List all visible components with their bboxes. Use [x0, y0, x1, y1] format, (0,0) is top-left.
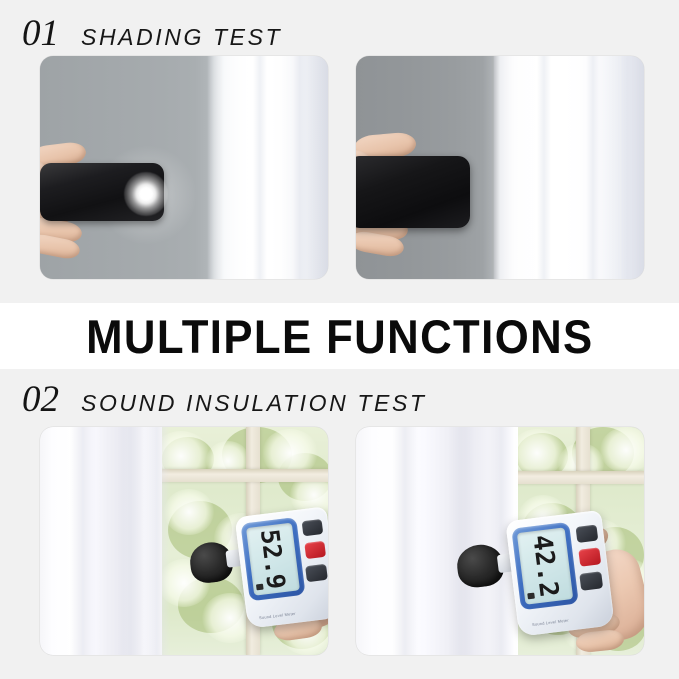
meter-button-power[interactable]	[302, 519, 324, 536]
meter-body: 42.2 Sound Level Meter	[505, 510, 614, 637]
meter-button-record[interactable]	[304, 541, 326, 559]
smartphone-flashlight-blocked	[356, 156, 470, 228]
banner-multiple-functions: MULTIPLE FUNCTIONS	[0, 303, 679, 369]
meter-body: 52.9 Sound Level Meter	[235, 506, 328, 628]
meter-lcd-screen: 42.2	[517, 527, 573, 604]
curtain-fold	[586, 56, 600, 279]
photo-panel-shading-flashlight-blocked	[356, 56, 644, 279]
meter-brand-label: Sound Level Meter	[532, 618, 569, 627]
curtain-fold	[70, 427, 96, 655]
meter-button-mode[interactable]	[579, 571, 603, 591]
meter-button-power[interactable]	[576, 524, 599, 542]
curtain-fold	[392, 427, 418, 655]
meter-reading-value: 42.2	[526, 533, 563, 599]
photo-panel-sound-behind-curtain: 42.2 Sound Level Meter	[356, 427, 644, 655]
curtain-fold	[144, 427, 170, 655]
meter-button-record[interactable]	[578, 547, 601, 566]
photo-panel-shading-flashlight-on	[40, 56, 328, 279]
meter-display-bezel: 52.9	[240, 517, 305, 601]
meter-display-bezel: 42.2	[511, 522, 579, 610]
section-heading-sound: 02 SOUND INSULATION TEST	[22, 378, 427, 421]
photo-panel-sound-at-window: 52.9 Sound Level Meter	[40, 427, 328, 655]
window-mullion-horizontal	[514, 471, 644, 484]
curtain-fold	[537, 56, 551, 279]
meter-brand-label: Sound Level Meter	[259, 611, 296, 620]
section-title-shading: SHADING TEST	[81, 24, 282, 51]
section-number-01: 01	[22, 12, 59, 55]
product-feature-image: 01 SHADING TEST	[0, 0, 679, 679]
curtain-fold	[293, 56, 307, 279]
meter-reading-value: 52.9	[255, 528, 291, 591]
section-heading-shading: 01 SHADING TEST	[22, 12, 282, 55]
banner-title: MULTIPLE FUNCTIONS	[86, 309, 594, 364]
lcd-mode-indicator	[527, 593, 535, 600]
flashlight-icon	[124, 172, 168, 216]
curtain-fold	[621, 56, 635, 279]
lcd-mode-indicator	[256, 584, 264, 591]
section-number-02: 02	[22, 378, 59, 421]
curtain-sheen	[207, 56, 328, 279]
window-mullion-horizontal	[158, 469, 328, 482]
curtain-fold	[118, 427, 144, 655]
meter-lcd-screen: 52.9	[246, 523, 300, 596]
section-title-sound: SOUND INSULATION TEST	[81, 390, 427, 417]
curtain-fold	[253, 56, 267, 279]
meter-button-mode[interactable]	[305, 564, 328, 582]
